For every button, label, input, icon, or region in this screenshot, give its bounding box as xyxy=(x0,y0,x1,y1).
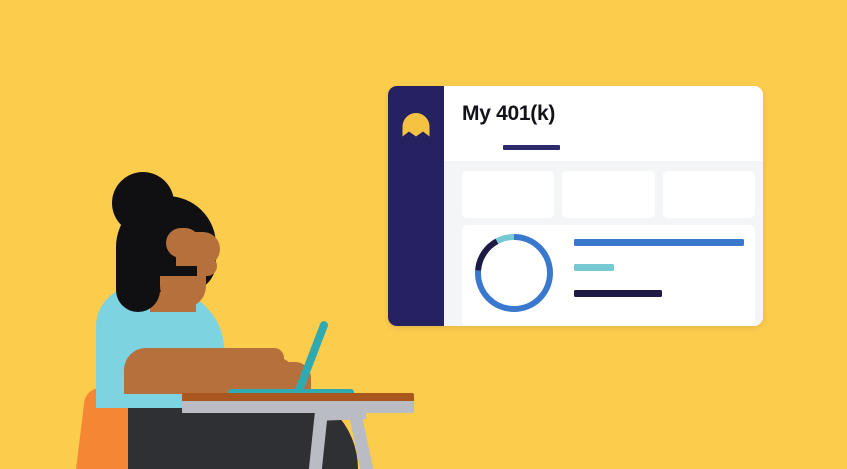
title-underline xyxy=(503,145,560,150)
person-hair-bun xyxy=(112,172,174,234)
stat-card-row xyxy=(462,171,755,218)
allocation-bar-list xyxy=(574,239,744,307)
dashboard-header: My 401(k) xyxy=(444,86,763,161)
dashboard-main: My 401(k) xyxy=(444,86,763,326)
guideline-dome-logo-icon xyxy=(401,111,431,141)
stat-card-2[interactable] xyxy=(562,171,654,218)
person-legs xyxy=(128,420,278,469)
dashboard-sidebar xyxy=(388,86,444,326)
person-hair-side xyxy=(116,250,160,312)
page-title: My 401(k) xyxy=(462,102,555,126)
dashboard-card: My 401(k) xyxy=(388,86,763,326)
bar-navy xyxy=(574,290,662,297)
desk-apron xyxy=(182,401,414,413)
allocation-donut-chart xyxy=(472,231,556,315)
stat-card-1[interactable] xyxy=(462,171,554,218)
stat-card-3[interactable] xyxy=(663,171,755,218)
bar-blue xyxy=(574,239,744,246)
illustration-scene: My 401(k) xyxy=(0,0,847,469)
bar-teal xyxy=(574,264,614,271)
chart-panel xyxy=(462,225,755,326)
person-nose xyxy=(197,256,217,276)
